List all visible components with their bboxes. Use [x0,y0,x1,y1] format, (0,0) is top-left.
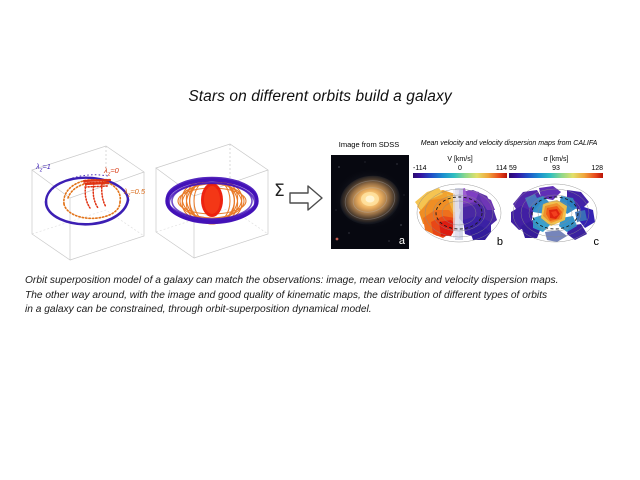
dispersion-tick-max: 128 [591,164,603,173]
panel-letter-c: c [594,237,600,248]
right-arrow-icon [288,182,324,214]
velocity-tick-max: 114 [496,164,507,173]
velocity-colorbar-title: V [km/s] [413,155,507,164]
sdss-galaxy-image: a [331,155,409,249]
dispersion-colorbar-title: σ [km/s] [509,155,603,164]
velocity-tick-mid: 0 [413,164,507,173]
lambda-z-05-label: λz≈0.5 [124,188,145,199]
caption: Orbit superposition model of a galaxy ca… [25,274,615,318]
velocity-map-canvas [413,178,507,249]
velocity-map-panel: V [km/s] -114 0 114 [413,155,507,249]
panel-letter-b: b [497,237,503,248]
dispersion-map-canvas [509,178,603,249]
caption-line-3: in a galaxy can be constrained, through … [25,303,615,318]
caption-line-2: The other way around, with the image and… [25,289,615,304]
califa-panel-header: Mean velocity and velocity dispersion ma… [412,140,606,147]
lambda-z-1-label: λz≈1 [36,163,51,174]
dispersion-tick-mid: 93 [509,164,603,173]
summation-symbol: Σ [274,183,285,200]
orbit-superposition-box [152,140,272,260]
caption-line-1: Orbit superposition model of a galaxy ca… [25,274,615,289]
individual-orbit-types-box [28,142,148,262]
lambda-z-0-label: λz≈0 [104,167,119,178]
sdss-panel-header: Image from SDSS [328,140,410,149]
panel-letter-a: a [399,236,405,247]
velocity-colorbar-ticks: -114 0 114 [413,164,507,173]
dispersion-colorbar-ticks: 59 93 128 [509,164,603,173]
page-title: Stars on different orbits build a galaxy [0,88,640,106]
dispersion-map-panel: σ [km/s] 59 93 128 [509,155,603,249]
